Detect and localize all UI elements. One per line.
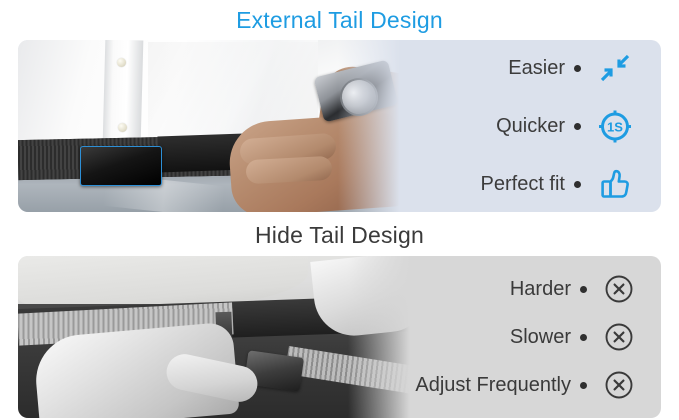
shirt-button-upper [117, 58, 126, 67]
panel-external-tail-design: Easier Quicker [18, 40, 661, 212]
feature-row-perfect-fit: Perfect fit [481, 164, 635, 204]
photo-hide-tail-design [18, 256, 418, 418]
feature-row-quicker: Quicker 1S [481, 106, 635, 146]
feature-list-external: Easier Quicker [481, 40, 635, 212]
feature-row-easier: Easier [481, 48, 635, 88]
feature-list-hide: Harder Slower [415, 256, 635, 418]
feature-label-adjust-frequently: Adjust Frequently [415, 375, 571, 395]
compress-arrows-icon [595, 48, 635, 88]
product-comparison-page: External Tail Design Easier [0, 0, 679, 420]
circle-x-icon [603, 369, 635, 401]
feature-label-quicker: Quicker [496, 116, 565, 136]
circle-x-icon [603, 273, 635, 305]
thumbs-up-icon [595, 164, 635, 204]
belt-buckle-highlighted [80, 146, 162, 186]
feature-row-adjust-frequently: Adjust Frequently [415, 369, 635, 401]
stopwatch-label: 1S [607, 120, 623, 135]
photo-fade-overlay [348, 256, 418, 418]
feature-label-perfect-fit: Perfect fit [481, 174, 565, 194]
feature-row-harder: Harder [415, 273, 635, 305]
section-title-hide-tail-design: Hide Tail Design [0, 224, 679, 247]
bullet-dot [580, 286, 587, 293]
feature-row-slower: Slower [415, 321, 635, 353]
bullet-dot [580, 334, 587, 341]
bullet-dot [574, 181, 581, 188]
section-title-external-tail-design: External Tail Design [0, 9, 679, 32]
photo-external-tail-design [18, 40, 408, 212]
feature-label-slower: Slower [510, 327, 571, 347]
circle-x-icon [603, 321, 635, 353]
bullet-dot [580, 382, 587, 389]
feature-label-easier: Easier [508, 58, 565, 78]
photo-fade-overlay [338, 40, 408, 212]
shirt-button-lower [118, 123, 127, 132]
bullet-dot [574, 65, 581, 72]
feature-label-harder: Harder [510, 279, 571, 299]
stopwatch-1s-icon: 1S [595, 106, 635, 146]
bullet-dot [574, 123, 581, 130]
panel-hide-tail-design: Harder Slower [18, 256, 661, 418]
finger-lower [245, 156, 332, 184]
